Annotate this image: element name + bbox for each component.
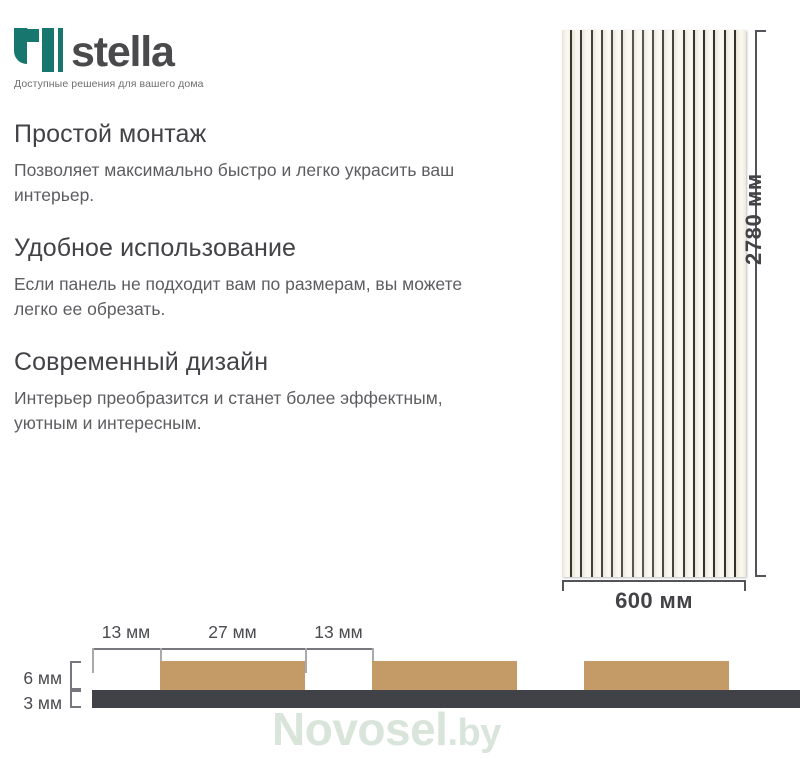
dimension-line	[755, 30, 757, 577]
logo-bar-j	[14, 28, 27, 64]
xs-slat-block-2	[372, 661, 517, 690]
feature-list: Простой монтаж Позволяет максимально быс…	[14, 120, 484, 462]
stella-bars-icon	[14, 28, 62, 72]
bracket-cap-bottom	[70, 706, 81, 708]
panel-slat-face	[736, 30, 746, 577]
dimension-line	[562, 580, 746, 582]
xs-top-label-1: 13 мм	[92, 622, 160, 643]
xs-tick-3	[305, 648, 307, 673]
xs-slat-block-1	[160, 661, 305, 690]
dimension-tick-bottom	[755, 575, 766, 577]
watermark-text: Novosel	[272, 703, 447, 755]
xs-slat-block-3	[584, 661, 729, 690]
xs-top-dimension-line	[92, 648, 373, 650]
xs-side-label-6mm: 6 мм	[0, 668, 62, 689]
brand-tagline: Доступные решения для вашего дома	[14, 78, 204, 90]
xs-top-label-2: 27 мм	[160, 622, 305, 643]
slat-wall-panel	[562, 30, 746, 577]
logo-bar-3	[58, 28, 63, 72]
dimension-tick-top	[755, 30, 766, 32]
logo-bar-2	[42, 28, 54, 72]
brand-logo: stella Доступные решения для вашего дома	[14, 26, 204, 90]
panel-width-label: 600 мм	[562, 588, 746, 614]
xs-top-label-3: 13 мм	[305, 622, 372, 643]
feature-title: Современный дизайн	[14, 348, 484, 377]
feature-body: Позволяет максимально быстро и легко укр…	[14, 158, 484, 208]
feature-item-3: Современный дизайн Интерьер преобразится…	[14, 348, 484, 436]
bracket-cap-top	[70, 690, 81, 692]
feature-item-1: Простой монтаж Позволяет максимально быс…	[14, 120, 484, 208]
panel-height-dimension-line	[755, 30, 767, 577]
panel-illustration	[562, 30, 746, 577]
brand-wordmark: stella	[71, 32, 174, 72]
panel-cross-section: 13 мм 27 мм 13 мм 6 мм 3 мм	[0, 615, 800, 710]
feature-title: Простой монтаж	[14, 120, 484, 149]
panel-slats	[562, 30, 746, 577]
feature-title: Удобное использование	[14, 234, 484, 263]
bracket-cap-top	[70, 661, 81, 663]
logo-row: stella	[14, 26, 204, 72]
xs-tick-1	[92, 648, 94, 673]
feature-body: Если панель не подходит вам по размерам,…	[14, 272, 484, 322]
feature-item-2: Удобное использование Если панель не под…	[14, 234, 484, 322]
watermark: Novosel.by	[272, 703, 501, 759]
xs-side-label-3mm: 3 мм	[0, 693, 62, 714]
bracket-line	[70, 661, 72, 690]
watermark-suffix: .by	[447, 712, 500, 754]
feature-body: Интерьер преобразится и станет более эфф…	[14, 386, 484, 436]
